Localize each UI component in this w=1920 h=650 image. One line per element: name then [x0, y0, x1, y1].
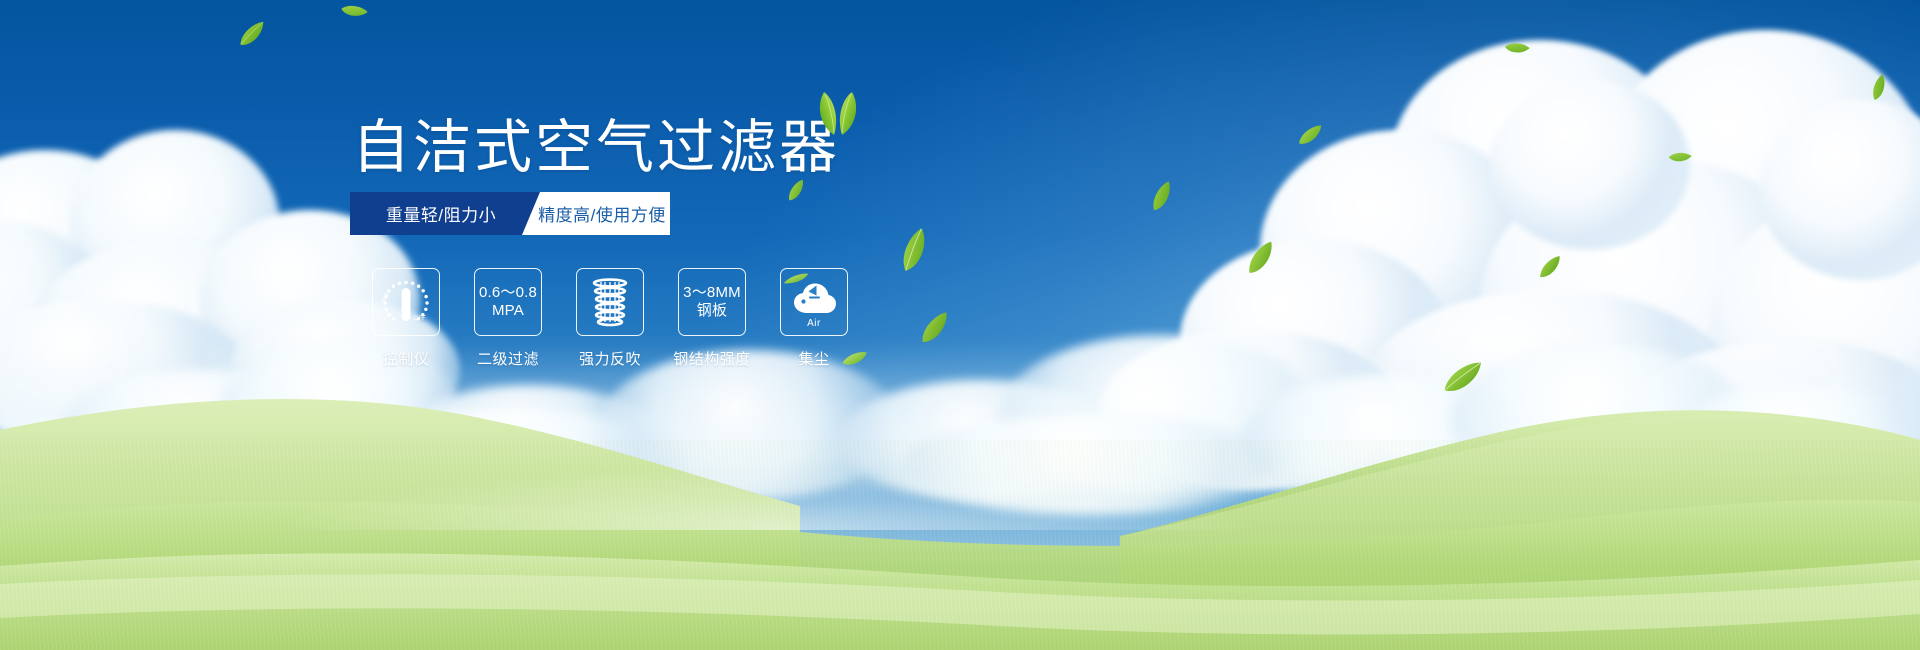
feature-icon-box	[576, 268, 644, 336]
gauge-off-label: OFF	[414, 315, 427, 322]
steel-plate-text-icon: 3～8MM 钢板	[683, 284, 741, 320]
steel-thickness: 3～8MM	[683, 284, 741, 301]
feature-label: 钢结构强度	[673, 348, 751, 369]
subtitle-right-text: 精度高/使用方便	[538, 201, 666, 226]
feature-icon-box: 3～8MM 钢板	[678, 268, 746, 336]
pressure-value: 0.6～0.8	[479, 284, 537, 301]
feature-item-strong-backflush[interactable]: 强力反吹	[559, 268, 661, 369]
steel-material: 钢板	[683, 302, 741, 320]
feature-icon-box: NO OFF	[372, 268, 440, 336]
feature-item-controller[interactable]: NO OFF 控制仪	[355, 268, 457, 369]
page-title: 自洁式空气过滤器	[352, 118, 840, 179]
gauge-on-label: NO	[380, 292, 391, 304]
green-sprout-icon	[808, 90, 868, 136]
banner-stage: 自洁式空气过滤器 重量轻/阻力小 精度高/使用方便	[0, 0, 1920, 650]
subtitle-left-segment: 重量轻/阻力小	[350, 192, 540, 235]
feature-item-dust-collection[interactable]: Air 集尘	[763, 268, 865, 369]
feature-label: 集尘	[798, 348, 829, 369]
feature-icon-box: 0.6～0.8 MPA	[474, 268, 542, 336]
banner-content: 自洁式空气过滤器 重量轻/阻力小 精度高/使用方便	[0, 0, 1920, 650]
subtitle-banner: 重量轻/阻力小 精度高/使用方便	[350, 192, 670, 235]
feature-list: NO OFF 控制仪 0.6～0.8 MPA 二级过滤	[355, 268, 865, 369]
pressure-unit: MPA	[479, 302, 537, 320]
title-block: 自洁式空气过滤器	[352, 118, 840, 179]
pressure-text-icon: 0.6～0.8 MPA	[479, 284, 537, 320]
gauge-dial-icon: NO OFF	[375, 271, 437, 333]
feature-label: 强力反吹	[579, 348, 641, 369]
decor-leaf-near-label	[840, 349, 871, 369]
decor-leaf-on-cloud-icon	[783, 272, 809, 292]
feature-item-steel-strength[interactable]: 3～8MM 钢板 钢结构强度	[661, 268, 763, 369]
filter-cartridge-icon	[584, 274, 636, 330]
subtitle-left-text: 重量轻/阻力小	[386, 201, 496, 226]
subtitle-right-segment: 精度高/使用方便	[522, 192, 670, 235]
feature-label: 控制仪	[383, 348, 430, 369]
feature-item-two-stage-filtration[interactable]: 0.6～0.8 MPA 二级过滤	[457, 268, 559, 369]
feature-label: 二级过滤	[477, 348, 539, 369]
air-text-label: Air	[781, 318, 847, 329]
feature-icon-box: Air	[780, 268, 848, 336]
